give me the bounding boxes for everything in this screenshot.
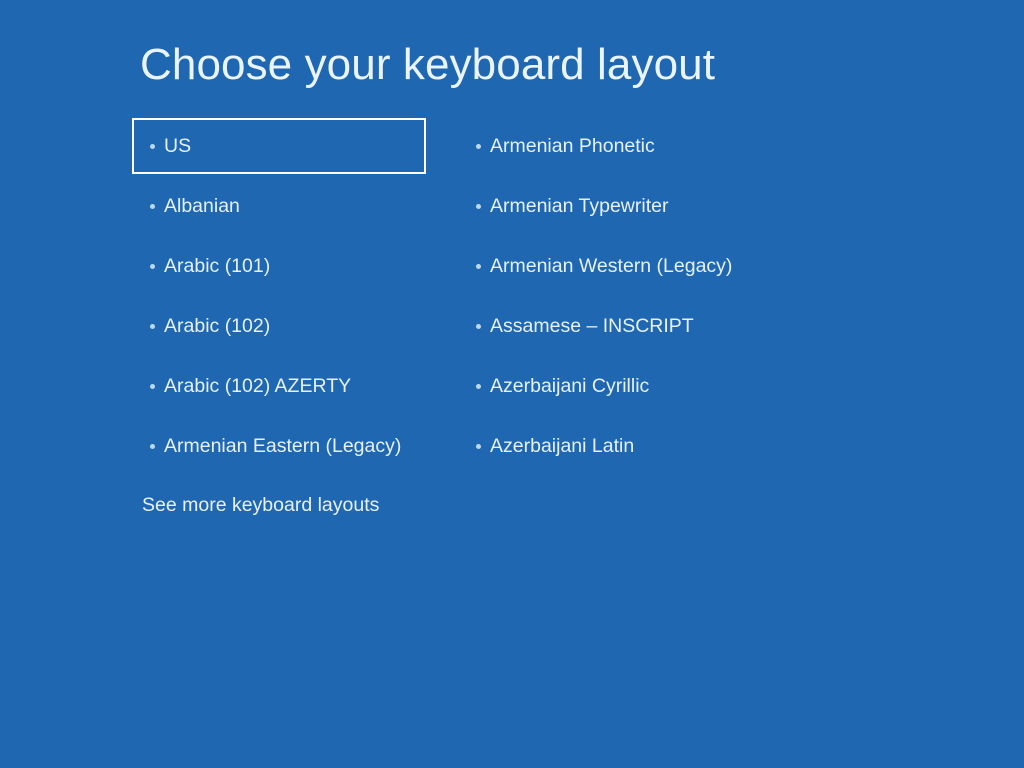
keyboard-layout-option-label: Arabic (102) AZERTY [164, 374, 351, 398]
bullet-icon [150, 144, 155, 149]
keyboard-layout-option[interactable]: Albanian [132, 178, 426, 234]
keyboard-layout-option[interactable]: Azerbaijani Cyrillic [458, 358, 788, 414]
keyboard-layout-option[interactable]: Assamese – INSCRIPT [458, 298, 788, 354]
keyboard-layout-option-label: Armenian Typewriter [490, 194, 668, 218]
keyboard-layout-option[interactable]: Armenian Typewriter [458, 178, 788, 234]
recovery-keyboard-layout-screen: Choose your keyboard layout USAlbanianAr… [0, 0, 1024, 768]
keyboard-layout-option-label: Assamese – INSCRIPT [490, 314, 694, 338]
keyboard-layout-option-label: US [164, 134, 191, 158]
keyboard-layout-list: USAlbanianArabic (101)Arabic (102)Arabic… [0, 118, 1024, 538]
bullet-icon [150, 444, 155, 449]
keyboard-layout-option-label: Albanian [164, 194, 240, 218]
bullet-icon [476, 204, 481, 209]
bullet-icon [150, 204, 155, 209]
keyboard-layout-option[interactable]: US [132, 118, 426, 174]
bullet-icon [476, 264, 481, 269]
bullet-icon [476, 144, 481, 149]
keyboard-layout-option[interactable]: Arabic (102) AZERTY [132, 358, 426, 414]
bullet-icon [476, 384, 481, 389]
keyboard-layout-option[interactable]: Arabic (102) [132, 298, 426, 354]
keyboard-layout-option-label: Arabic (101) [164, 254, 270, 278]
keyboard-layout-option-label: Arabic (102) [164, 314, 270, 338]
bullet-icon [150, 324, 155, 329]
keyboard-layout-option[interactable]: Armenian Phonetic [458, 118, 788, 174]
see-more-keyboard-layouts-link[interactable]: See more keyboard layouts [142, 492, 379, 518]
bullet-icon [476, 444, 481, 449]
keyboard-layout-option-label: Azerbaijani Cyrillic [490, 374, 649, 398]
page-title: Choose your keyboard layout [140, 36, 715, 94]
keyboard-layout-option[interactable]: Armenian Western (Legacy) [458, 238, 788, 294]
keyboard-layout-option[interactable]: Azerbaijani Latin [458, 418, 788, 474]
keyboard-layout-option-label: Azerbaijani Latin [490, 434, 634, 458]
keyboard-layout-option-label: Armenian Western (Legacy) [490, 254, 732, 278]
keyboard-layout-option-label: Armenian Phonetic [490, 134, 655, 158]
bullet-icon [476, 324, 481, 329]
bullet-icon [150, 264, 155, 269]
keyboard-layout-option[interactable]: Armenian Eastern (Legacy) [132, 418, 426, 474]
keyboard-layout-option[interactable]: Arabic (101) [132, 238, 426, 294]
bullet-icon [150, 384, 155, 389]
keyboard-layout-option-label: Armenian Eastern (Legacy) [164, 434, 401, 458]
